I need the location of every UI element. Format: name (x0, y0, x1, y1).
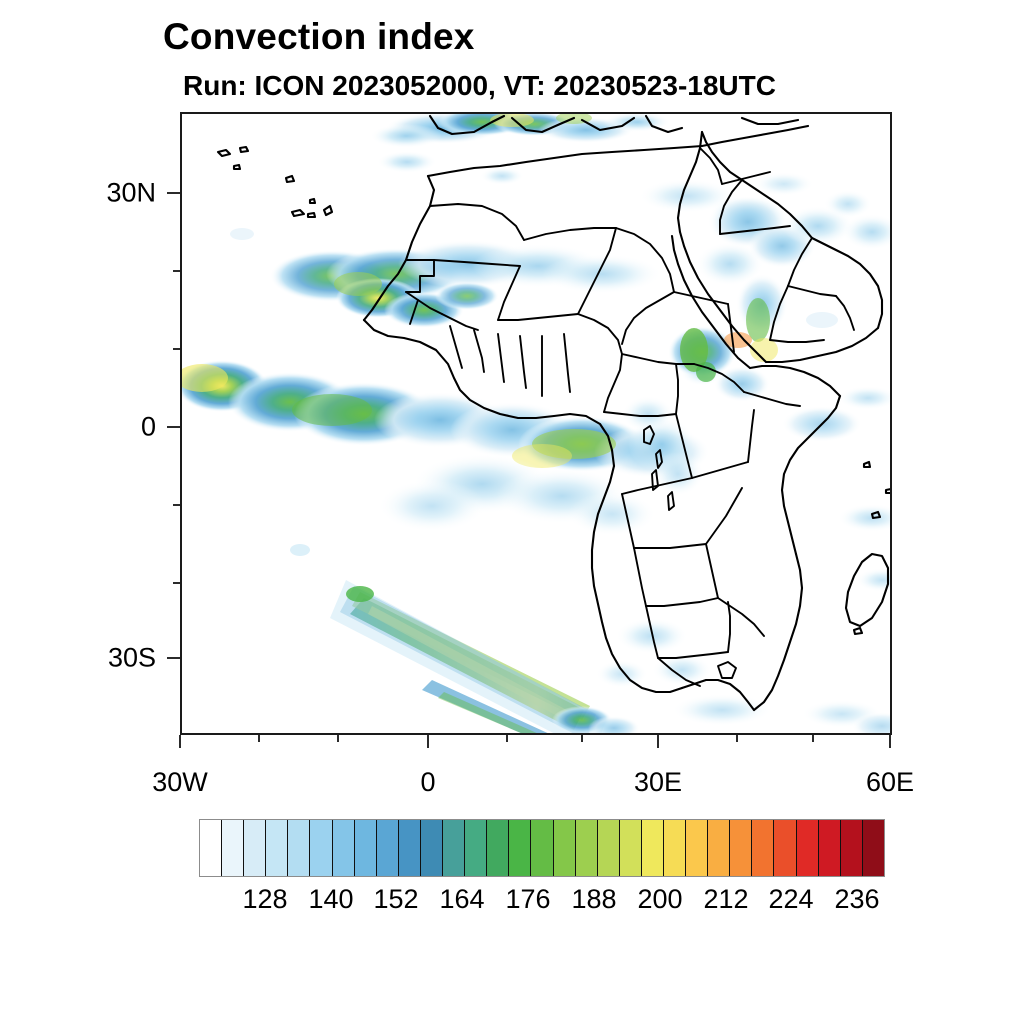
map-panel (180, 112, 892, 735)
x-axis-tick (581, 735, 583, 742)
colorbar-band[interactable] (708, 820, 730, 876)
colorbar-band[interactable] (509, 820, 531, 876)
convection-index-figure: Convection index Run: ICON 2023052000, V… (0, 0, 1024, 1024)
colorbar-band[interactable] (222, 820, 244, 876)
colorbar-band[interactable] (443, 820, 465, 876)
colorbar-band[interactable] (355, 820, 377, 876)
x-axis-label: 0 (420, 769, 435, 796)
colorbar-band[interactable] (531, 820, 553, 876)
y-axis-tick (173, 348, 180, 350)
x-axis-tick (657, 735, 659, 748)
colorbar-band[interactable] (819, 820, 841, 876)
colorbar-band[interactable] (752, 820, 774, 876)
colorbar-band[interactable] (333, 820, 355, 876)
x-axis-label: 30E (634, 769, 682, 796)
colorbar-band[interactable] (841, 820, 863, 876)
x-axis-tick (258, 735, 260, 742)
colorbar-band[interactable] (642, 820, 664, 876)
colorbar-band[interactable] (465, 820, 487, 876)
colorbar-band[interactable] (598, 820, 620, 876)
colorbar-band[interactable] (730, 820, 752, 876)
colorbar-band[interactable] (310, 820, 332, 876)
y-axis-tick (167, 192, 180, 194)
colorbar-band[interactable] (200, 820, 222, 876)
colorbar-tick-label: 128 (242, 886, 287, 913)
y-axis-tick (167, 657, 180, 659)
colorbar-band[interactable] (421, 820, 443, 876)
y-axis-label: 0 (141, 414, 156, 441)
map-frame (180, 112, 892, 735)
convection-shading-layer (182, 114, 892, 735)
x-axis-tick (179, 735, 181, 748)
colorbar-tick-label: 164 (439, 886, 484, 913)
x-axis-tick (736, 735, 738, 742)
map-canvas (182, 114, 892, 735)
y-axis-tick (167, 426, 180, 428)
colorbar-tick-label: 212 (703, 886, 748, 913)
y-axis-tick (173, 504, 180, 506)
x-axis-tick (427, 735, 429, 748)
colorbar-tick-label: 140 (308, 886, 353, 913)
y-axis-tick (173, 582, 180, 584)
x-axis-label: 60E (866, 769, 914, 796)
colorbar-tick-label: 176 (505, 886, 550, 913)
colorbar-band[interactable] (399, 820, 421, 876)
colorbar[interactable] (199, 819, 885, 877)
page-title: Convection index (163, 18, 475, 55)
colorbar-band[interactable] (620, 820, 642, 876)
colorbar-band[interactable] (266, 820, 288, 876)
y-axis-label: 30N (106, 180, 156, 207)
y-axis-tick (173, 270, 180, 272)
colorbar-band[interactable] (863, 820, 884, 876)
colorbar-band[interactable] (774, 820, 796, 876)
x-axis-label: 30W (152, 769, 208, 796)
colorbar-band[interactable] (554, 820, 576, 876)
x-axis-tick (889, 735, 891, 748)
colorbar-band[interactable] (664, 820, 686, 876)
colorbar-band[interactable] (686, 820, 708, 876)
x-axis-tick (337, 735, 339, 742)
colorbar-band[interactable] (288, 820, 310, 876)
colorbar-tick-label: 236 (834, 886, 879, 913)
colorbar-gradient[interactable] (199, 819, 885, 877)
x-axis-tick (506, 735, 508, 742)
colorbar-band[interactable] (487, 820, 509, 876)
colorbar-tick-label: 224 (768, 886, 813, 913)
colorbar-band[interactable] (244, 820, 266, 876)
colorbar-band[interactable] (576, 820, 598, 876)
y-axis-label: 30S (108, 645, 156, 672)
colorbar-tick-label: 200 (637, 886, 682, 913)
colorbar-tick-label: 188 (571, 886, 616, 913)
x-axis-tick (812, 735, 814, 742)
colorbar-band[interactable] (797, 820, 819, 876)
colorbar-tick-label: 152 (373, 886, 418, 913)
page-subtitle: Run: ICON 2023052000, VT: 20230523-18UTC (183, 72, 776, 100)
colorbar-band[interactable] (377, 820, 399, 876)
